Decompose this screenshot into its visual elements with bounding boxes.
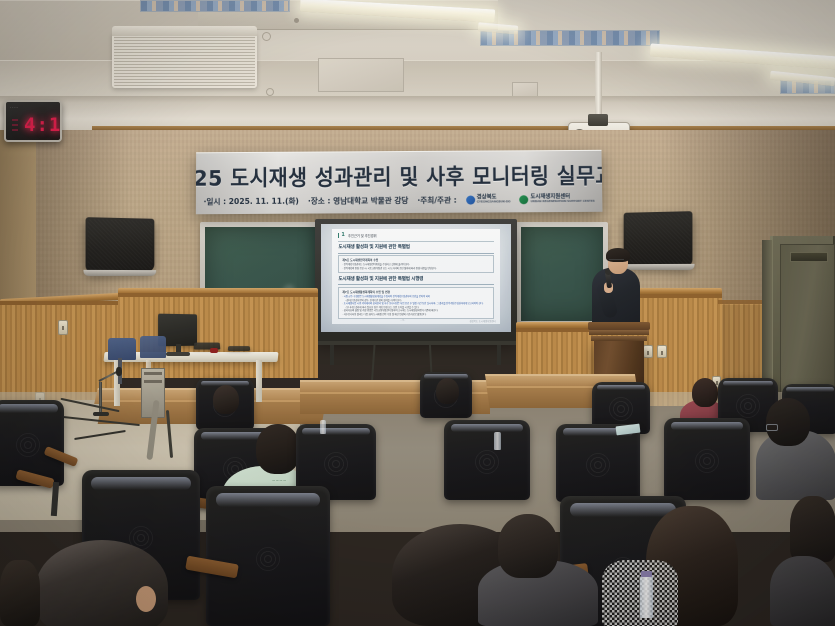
presentation-slide: 1 추진근거 및 추진경위 도시재생 활성화 및 지원에 관한 특별법 제5조 … xyxy=(332,229,499,324)
slide-section1-caption: 제5조 도시재생전략계획의 수립 xyxy=(342,258,489,262)
pc-drive-slot xyxy=(144,380,162,383)
slide-section-underline xyxy=(338,253,493,254)
clock-indicator-icon xyxy=(12,119,18,131)
instructor-chair xyxy=(140,336,166,358)
projector-bracket xyxy=(588,114,608,126)
seat-highlight xyxy=(786,387,833,392)
banner-host: ·주최/주관 : xyxy=(417,194,456,205)
slide-section2-box: 제7조 도시재생활성화계획의 수립 및 변경 · 시장·군수·구청장은 도시재생… xyxy=(338,287,493,319)
slide-section-underline xyxy=(338,284,493,285)
clock-time-display: 4:13 xyxy=(24,114,62,136)
seat[interactable] xyxy=(664,418,750,500)
logo-sub-text: URBAN REGENERATION SUPPORT CENTER xyxy=(531,200,595,203)
seat-highlight xyxy=(216,493,320,507)
desk-leg xyxy=(256,360,262,402)
eyeglasses-icon xyxy=(609,259,624,262)
slide-section1-box: 제5조 도시재생전략계획의 수립 · 전략계획수립권자는 도시재생전략계획을 수… xyxy=(338,255,493,273)
air-conditioner-vent xyxy=(112,32,257,88)
audience-head xyxy=(692,378,718,407)
center-logo-icon xyxy=(519,195,528,204)
microphone-stand xyxy=(99,382,102,414)
foreground-head-left xyxy=(36,540,168,626)
seat-highlight xyxy=(570,503,676,517)
slide-footer-right: 경상북도 도시재생지원센터 xyxy=(469,319,495,323)
seat-highlight xyxy=(597,385,646,390)
monitor-base xyxy=(166,352,190,356)
gyeongsangbuk-logo-icon xyxy=(466,195,475,204)
keyboard-secondary[interactable] xyxy=(228,346,250,351)
sprinkler-head xyxy=(262,32,271,41)
slide-number: 1 xyxy=(338,233,344,238)
audience-head xyxy=(256,424,300,474)
eyeglasses-icon xyxy=(766,424,778,431)
seat-highlight xyxy=(671,422,743,430)
slide-section2-caption: 제7조 도시재생활성화계획의 수립 및 변경 xyxy=(342,290,489,294)
seat-highlight xyxy=(302,428,369,436)
seat[interactable] xyxy=(556,424,640,502)
ceiling-light-strip xyxy=(140,0,290,12)
slide-header-text: 추진근거 및 추진경위 xyxy=(348,233,377,238)
microphone-base xyxy=(93,412,109,416)
audience-head xyxy=(436,378,459,404)
audience-head xyxy=(766,398,810,446)
audience-body xyxy=(770,556,835,626)
speaker-bracket xyxy=(83,270,156,276)
audience-head xyxy=(213,385,239,414)
clock-brand-label: ····· xyxy=(10,105,19,110)
seat[interactable] xyxy=(444,420,530,500)
wall-speaker-left xyxy=(86,217,155,273)
banner-date: ·일시 : 2025. 11. 11.(화) xyxy=(203,195,298,207)
slide-footer: - 3 - 경상북도 도시재생지원센터 xyxy=(332,319,499,323)
seat[interactable] xyxy=(206,486,330,626)
slide-bullet: · 사후모니터링 결과는 다음 회차 도시재생 전략 수립 및 예산 편성의 기… xyxy=(342,313,489,316)
seat-emblem-icon xyxy=(608,396,634,422)
seat-highlight xyxy=(723,381,773,386)
seat-emblem-icon xyxy=(585,452,611,478)
banner-place: ·장소 : 영남대학교 박물관 강당 xyxy=(308,194,408,206)
podium-top xyxy=(588,322,650,330)
slide-bullet: · 전략계획의 변경 승인 시, 국토교통부장관 또는 시·도지사의 승인 절차… xyxy=(342,267,489,270)
chalkboard-surface xyxy=(521,227,603,321)
seat-emblem-icon xyxy=(15,432,41,458)
seat-emblem-icon xyxy=(474,449,500,475)
bottle-cap xyxy=(641,571,652,577)
seat-emblem-icon xyxy=(323,451,349,477)
seat-back xyxy=(556,424,640,502)
pc-drive-slot xyxy=(144,372,162,375)
seat-emblem-icon xyxy=(735,393,761,419)
seat-highlight xyxy=(451,424,523,432)
seat-emblem-icon xyxy=(245,536,291,582)
auditorium-photo: ····· 4:13 2025 도시재생 성과관리 및 사후 모니터링 실무교육… xyxy=(0,0,835,626)
water-bottle[interactable] xyxy=(320,420,326,434)
ceiling-access-panel xyxy=(318,58,404,92)
seat-back xyxy=(206,486,330,626)
screen-frame-bottom xyxy=(316,341,516,345)
slide-header: 1 추진근거 및 추진경위 xyxy=(338,233,493,238)
seat-highlight xyxy=(91,477,190,490)
screen-surface: 1 추진근거 및 추진경위 도시재생 활성화 및 지원에 관한 특별법 제5조 … xyxy=(321,224,511,332)
seat-back xyxy=(444,420,530,500)
banner-title: 2025 도시재생 성과관리 및 사후 모니터링 실무교육 xyxy=(196,157,603,192)
slide-section1-title: 도시재생 활성화 및 지원에 관한 특별법 xyxy=(338,244,493,250)
logo-sub-text: GYEONGSANGBUK-DO xyxy=(477,201,511,204)
water-bottle[interactable] xyxy=(494,432,501,450)
seat-highlight xyxy=(0,404,58,413)
wall-outlet xyxy=(643,345,653,358)
slide-section2-title: 도시재생 활성화 및 지원에 관한 특별법 시행령 xyxy=(338,276,493,282)
microphone-capsule xyxy=(116,367,122,376)
audience-head xyxy=(790,496,835,562)
seat-emblem-icon xyxy=(694,448,720,474)
banner-subtitle: ·일시 : 2025. 11. 11.(화) ·장소 : 영남대학교 박물관 강… xyxy=(203,193,594,206)
event-banner: 2025 도시재생 성과관리 및 사후 모니터링 실무교육 ·일시 : 2025… xyxy=(196,150,603,214)
audience-head xyxy=(0,560,40,626)
vent-frame xyxy=(112,26,257,36)
mouse[interactable] xyxy=(210,348,218,353)
door-window xyxy=(790,252,828,262)
light-switch[interactable] xyxy=(58,320,68,335)
logo-urban-regeneration-center: 도시재생지원센터 URBAN REGENERATION SUPPORT CENT… xyxy=(519,194,594,203)
slide-divider xyxy=(338,241,493,242)
wall-outlet xyxy=(657,345,667,358)
projection-screen: 1 추진근거 및 추진경위 도시재생 활성화 및 지원에 관한 특별법 제5조 … xyxy=(315,219,517,341)
led-wall-clock: ····· 4:13 xyxy=(4,100,62,142)
ear xyxy=(136,586,156,612)
speaker-bracket xyxy=(622,264,695,270)
seat-back xyxy=(664,418,750,500)
audience-head xyxy=(498,514,558,578)
instructor-chair xyxy=(108,338,136,360)
podium-lip xyxy=(589,330,649,335)
ceiling-smoke-detector xyxy=(294,18,299,23)
slide-page-number: - 3 - xyxy=(401,319,406,323)
logo-gyeongsangbuk-do: 경상북도 GYEONGSANGBUK-DO xyxy=(466,195,511,204)
wall-speaker-right xyxy=(624,211,693,267)
sprinkler-head xyxy=(266,88,274,96)
water-bottle[interactable] xyxy=(640,576,653,618)
sweater-print: ~~~~ xyxy=(272,478,287,483)
